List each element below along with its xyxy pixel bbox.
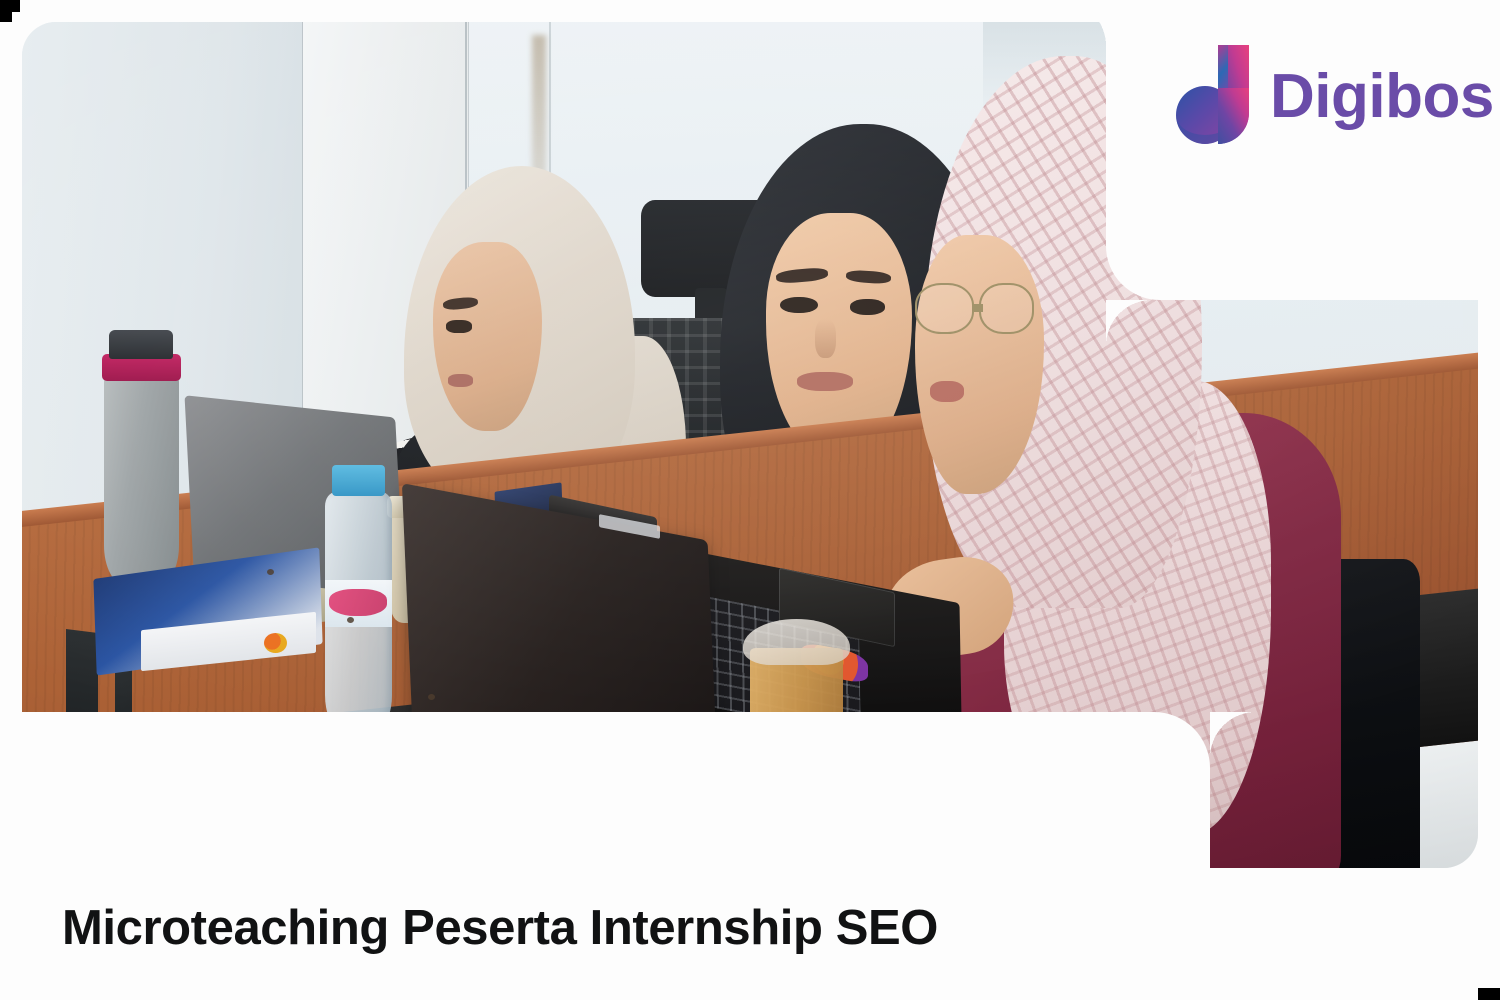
person-left-eye	[446, 320, 472, 333]
poster-canvas: Digibos Microteaching Peserta Internship…	[0, 0, 1500, 1000]
title-bar: Microteaching Peserta Internship SEO	[0, 712, 1210, 1000]
person-right-eyeglasses-lens	[979, 283, 1033, 333]
water-bottle-brand-mark	[329, 589, 387, 616]
brand-logo-badge: Digibos	[1106, 0, 1500, 300]
person-center-eye	[780, 297, 818, 314]
digibos-d-mark-icon	[1176, 42, 1252, 152]
person-left-face	[433, 242, 542, 432]
desk-crumb	[428, 694, 435, 700]
person-right-eyeglasses-bridge	[972, 304, 983, 313]
person-right-eyeglasses-lens	[915, 283, 974, 333]
page-title: Microteaching Peserta Internship SEO	[62, 900, 938, 956]
brand-wordmark: Digibos	[1270, 66, 1494, 128]
crop-mark-top-left	[0, 0, 20, 12]
crop-mark-top-left-b	[0, 12, 12, 22]
person-center-nose	[815, 319, 836, 358]
person-right-lips	[930, 381, 965, 402]
person-center-lips	[797, 372, 853, 391]
brand-logo[interactable]: Digibos	[1176, 42, 1494, 152]
person-left-lips	[448, 374, 474, 386]
desk-crumb	[347, 617, 354, 623]
sports-tumbler	[104, 365, 180, 585]
tumbler-cap	[109, 330, 173, 359]
crop-mark-bottom-right	[1478, 988, 1500, 1000]
person-center-eye	[850, 299, 885, 315]
textbook-logo-icon	[264, 633, 287, 653]
water-bottle-cap	[332, 465, 384, 495]
